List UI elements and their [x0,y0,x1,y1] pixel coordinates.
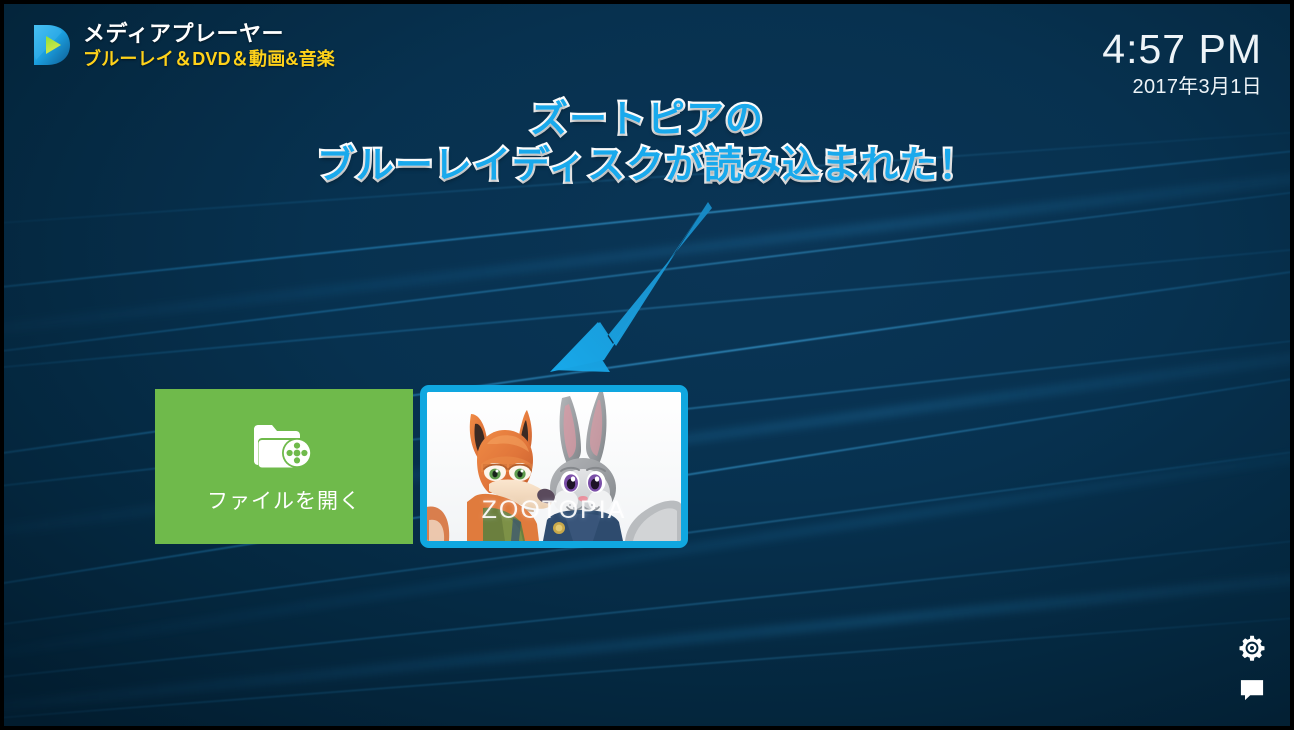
open-file-label: ファイルを開く [207,485,361,515]
app-title: メディアプレーヤー [83,23,335,45]
clock-date: 2017年3月1日 [1102,74,1262,100]
open-file-tile[interactable]: ファイルを開く [155,389,413,544]
zootopia-movie-thumbnail [427,392,681,541]
app-brand: メディアプレーヤー ブルーレイ＆DVD＆動画&音楽 [30,22,335,68]
zootopia-disc-tile[interactable]: ZOOTOPIA [420,385,688,548]
app-subtitle: ブルーレイ＆DVD＆動画&音楽 [83,50,335,68]
feedback-speech-bubble-icon[interactable] [1238,676,1266,704]
media-player-home-screen: メディアプレーヤー ブルーレイ＆DVD＆動画&音楽 4:57 PM 2017年3… [0,0,1294,730]
desktop-wallpaper [4,4,1290,726]
wallpaper-streak [4,552,1290,725]
folder-film-reel-icon [252,419,316,471]
settings-gear-icon[interactable] [1238,634,1266,662]
media-player-logo-icon [30,22,74,68]
clock-widget: 4:57 PM 2017年3月1日 [1102,26,1262,100]
clock-time: 4:57 PM [1102,26,1262,72]
system-icon-tray [1238,634,1266,704]
